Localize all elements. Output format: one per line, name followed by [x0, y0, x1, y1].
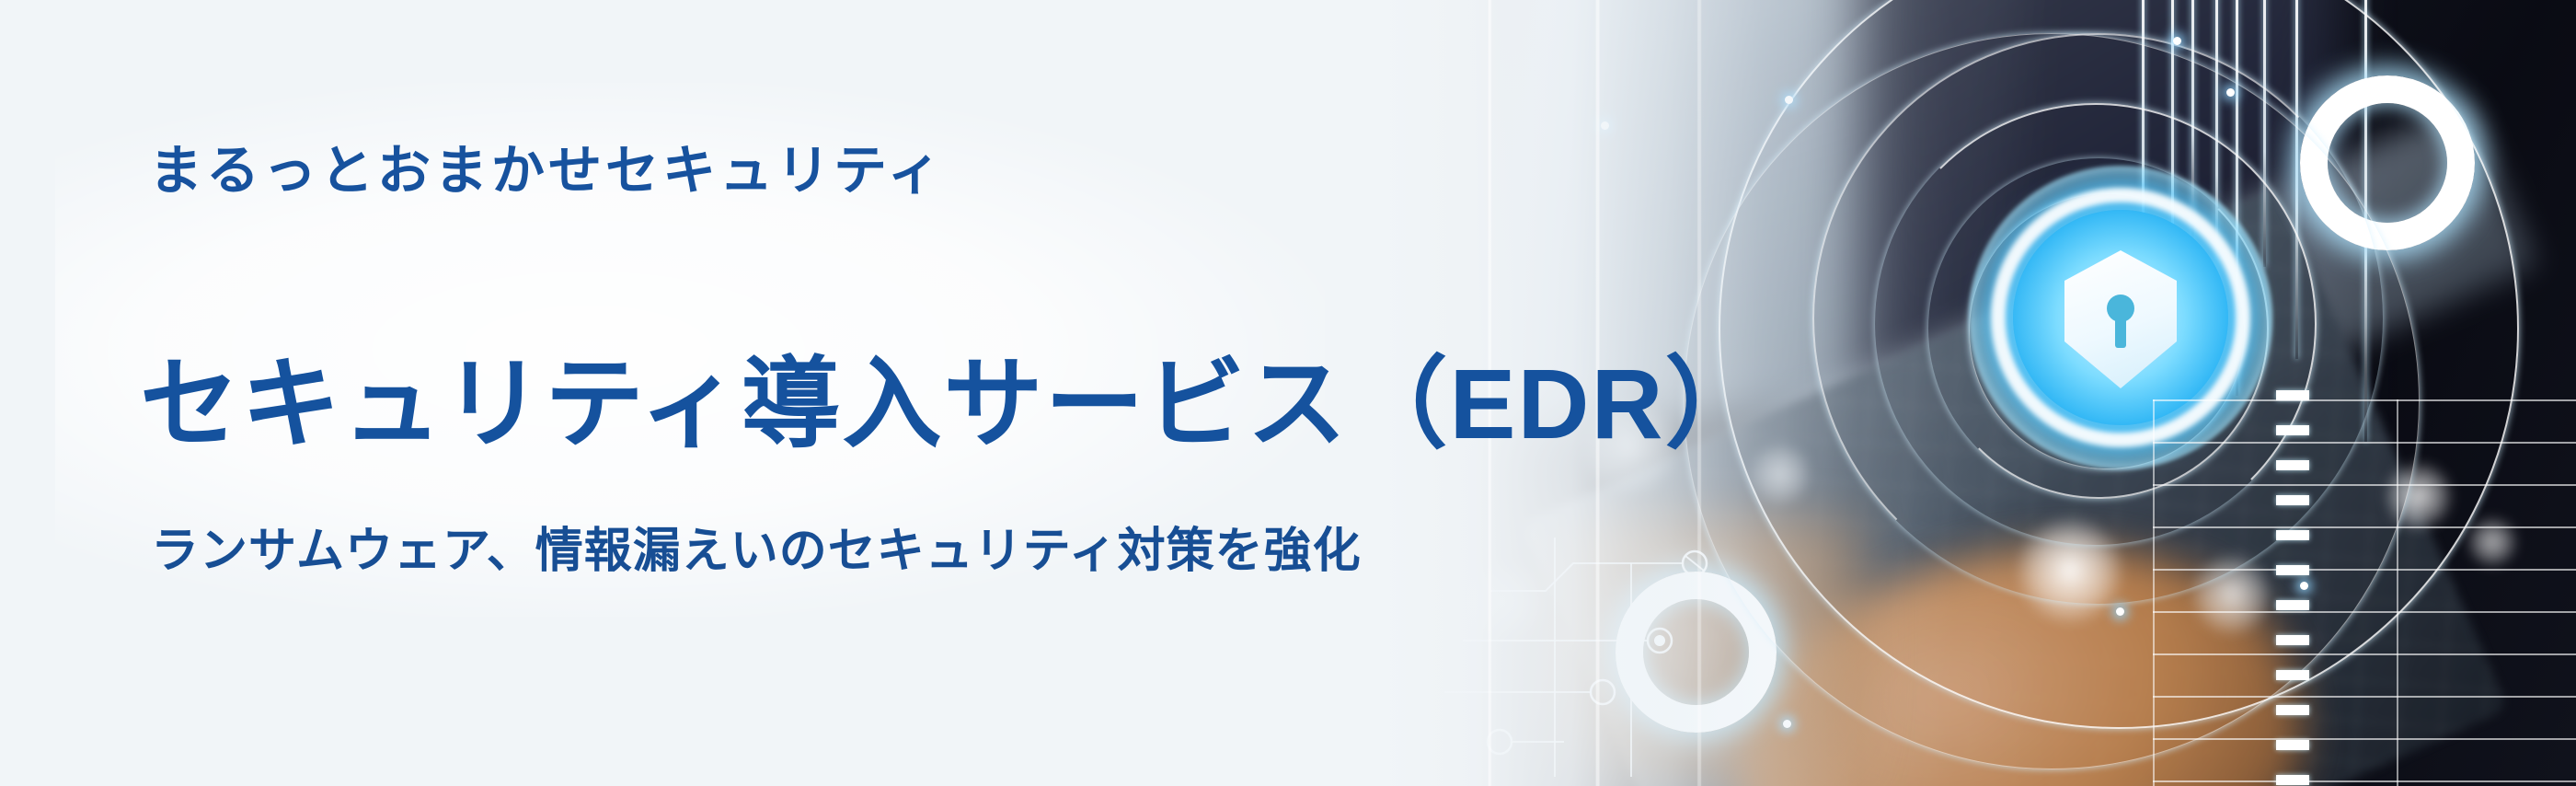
tagline: まるっとおまかせセキュリティ	[149, 127, 945, 204]
hero-text-block: まるっとおまかせセキュリティ セキュリティ導入サービス（EDR） ランサムウェア…	[0, 0, 1380, 786]
subtitle: ランサムウェア、情報漏えいのセキュリティ対策を強化	[151, 512, 1362, 581]
page-title: セキュリティ導入サービス（EDR）	[140, 324, 1766, 468]
security-service-hero-banner: まるっとおまかせセキュリティ セキュリティ導入サービス（EDR） ランサムウェア…	[0, 0, 2576, 786]
